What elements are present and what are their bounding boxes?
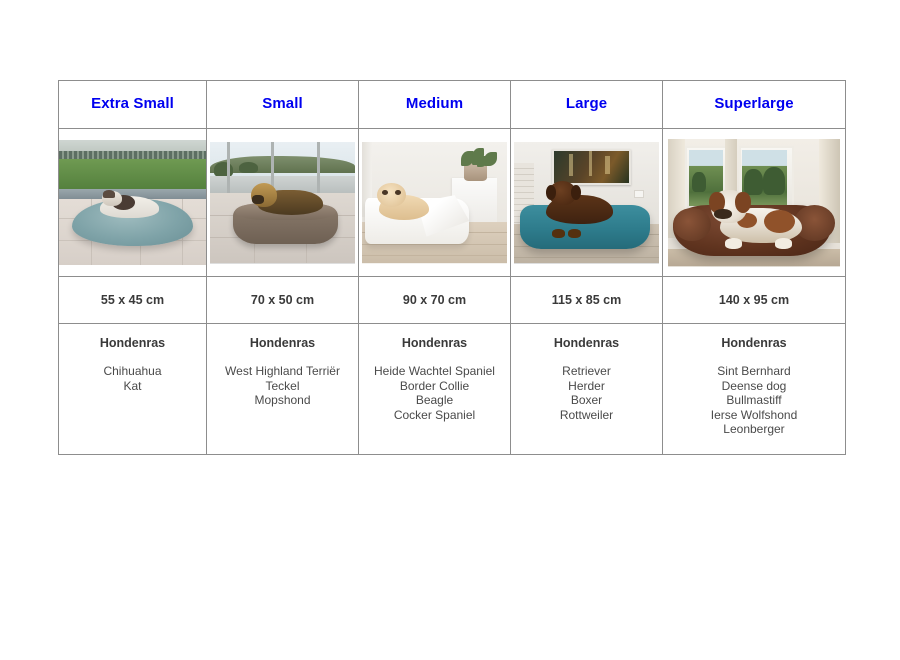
breeds-cell-superlarge: Hondenras Sint BernhardDeense dogBullmas… — [663, 324, 846, 455]
header-cell-superlarge: Superlarge — [663, 81, 846, 129]
size-name-label: Medium — [359, 96, 510, 113]
breed-item: Ierse Wolfshond — [663, 408, 845, 423]
photo-wrapper — [59, 129, 206, 276]
product-photo-large — [514, 142, 659, 264]
image-cell-large — [511, 129, 663, 277]
breed-item: Deense dog — [663, 379, 845, 394]
table-dimensions-row: 55 x 45 cm 70 x 50 cm 90 x 70 cm 115 x 8… — [59, 277, 846, 324]
breed-item: Leonberger — [663, 422, 845, 437]
breeds-list: Heide Wachtel SpanielBorder CollieBeagle… — [359, 364, 510, 422]
breed-item: Sint Bernhard — [663, 364, 845, 379]
dimension-cell-extra-small: 55 x 45 cm — [59, 277, 207, 324]
header-cell-large: Large — [511, 81, 663, 129]
photo-wrapper — [663, 129, 845, 276]
breeds-list: West Highland TerriërTeckelMopshond — [207, 364, 358, 408]
breeds-heading: Hondenras — [207, 336, 358, 350]
product-photo-small — [210, 142, 355, 264]
size-name-label: Extra Small — [59, 96, 206, 113]
breeds-list-container: Hondenras West Highland TerriërTeckelMop… — [207, 324, 358, 408]
photo-wrapper — [511, 129, 662, 276]
dimension-label: 115 x 85 cm — [511, 293, 662, 307]
breeds-heading: Hondenras — [511, 336, 662, 350]
breeds-list-container: Hondenras ChihuahuaKat — [59, 324, 206, 393]
image-cell-superlarge — [663, 129, 846, 277]
size-name-label: Superlarge — [663, 96, 845, 113]
breeds-cell-extra-small: Hondenras ChihuahuaKat — [59, 324, 207, 455]
photo-wrapper — [359, 129, 510, 276]
dimension-label: 55 x 45 cm — [59, 293, 206, 307]
size-name-label: Large — [511, 96, 662, 113]
image-cell-medium — [359, 129, 511, 277]
breed-item: Rottweiler — [511, 408, 662, 423]
breeds-cell-large: Hondenras RetrieverHerderBoxerRottweiler — [511, 324, 663, 455]
breed-item: Herder — [511, 379, 662, 394]
breed-item: Beagle — [359, 393, 510, 408]
dimension-label: 70 x 50 cm — [207, 293, 358, 307]
breeds-list-container: Hondenras RetrieverHerderBoxerRottweiler — [511, 324, 662, 422]
dimension-cell-superlarge: 140 x 95 cm — [663, 277, 846, 324]
product-photo-superlarge — [668, 139, 840, 267]
dimension-label: 90 x 70 cm — [359, 293, 510, 307]
breed-item: Retriever — [511, 364, 662, 379]
breeds-list: RetrieverHerderBoxerRottweiler — [511, 364, 662, 422]
dimension-cell-small: 70 x 50 cm — [207, 277, 359, 324]
table-breeds-row: Hondenras ChihuahuaKat Hondenras West Hi… — [59, 324, 846, 455]
breed-item: Chihuahua — [59, 364, 206, 379]
dimension-cell-medium: 90 x 70 cm — [359, 277, 511, 324]
header-cell-medium: Medium — [359, 81, 511, 129]
breeds-list-container: Hondenras Heide Wachtel SpanielBorder Co… — [359, 324, 510, 422]
breeds-cell-small: Hondenras West Highland TerriërTeckelMop… — [207, 324, 359, 455]
header-cell-small: Small — [207, 81, 359, 129]
dimension-label: 140 x 95 cm — [663, 293, 845, 307]
breeds-list: ChihuahuaKat — [59, 364, 206, 393]
table-header-row: Extra Small Small Medium Large Superlarg… — [59, 81, 846, 129]
image-cell-small — [207, 129, 359, 277]
image-cell-extra-small — [59, 129, 207, 277]
breeds-heading: Hondenras — [59, 336, 206, 350]
photo-wrapper — [207, 129, 358, 276]
page-canvas: Extra Small Small Medium Large Superlarg… — [0, 0, 900, 660]
header-cell-extra-small: Extra Small — [59, 81, 207, 129]
breed-item: Bullmastiff — [663, 393, 845, 408]
breed-item: Teckel — [207, 379, 358, 394]
breeds-heading: Hondenras — [663, 336, 845, 350]
product-photo-medium — [362, 142, 507, 264]
breeds-heading: Hondenras — [359, 336, 510, 350]
table-image-row — [59, 129, 846, 277]
breed-item: West Highland Terriër — [207, 364, 358, 379]
breed-item: Mopshond — [207, 393, 358, 408]
breed-item: Cocker Spaniel — [359, 408, 510, 423]
breeds-list-container: Hondenras Sint BernhardDeense dogBullmas… — [663, 324, 845, 437]
breed-item: Border Collie — [359, 379, 510, 394]
breed-item: Boxer — [511, 393, 662, 408]
breeds-cell-medium: Hondenras Heide Wachtel SpanielBorder Co… — [359, 324, 511, 455]
breed-item: Kat — [59, 379, 206, 394]
product-photo-extra-small — [59, 140, 206, 265]
breed-item: Heide Wachtel Spaniel — [359, 364, 510, 379]
breeds-list: Sint BernhardDeense dogBullmastiffIerse … — [663, 364, 845, 437]
size-name-label: Small — [207, 96, 358, 113]
dog-bed-size-table: Extra Small Small Medium Large Superlarg… — [58, 80, 846, 455]
dimension-cell-large: 115 x 85 cm — [511, 277, 663, 324]
